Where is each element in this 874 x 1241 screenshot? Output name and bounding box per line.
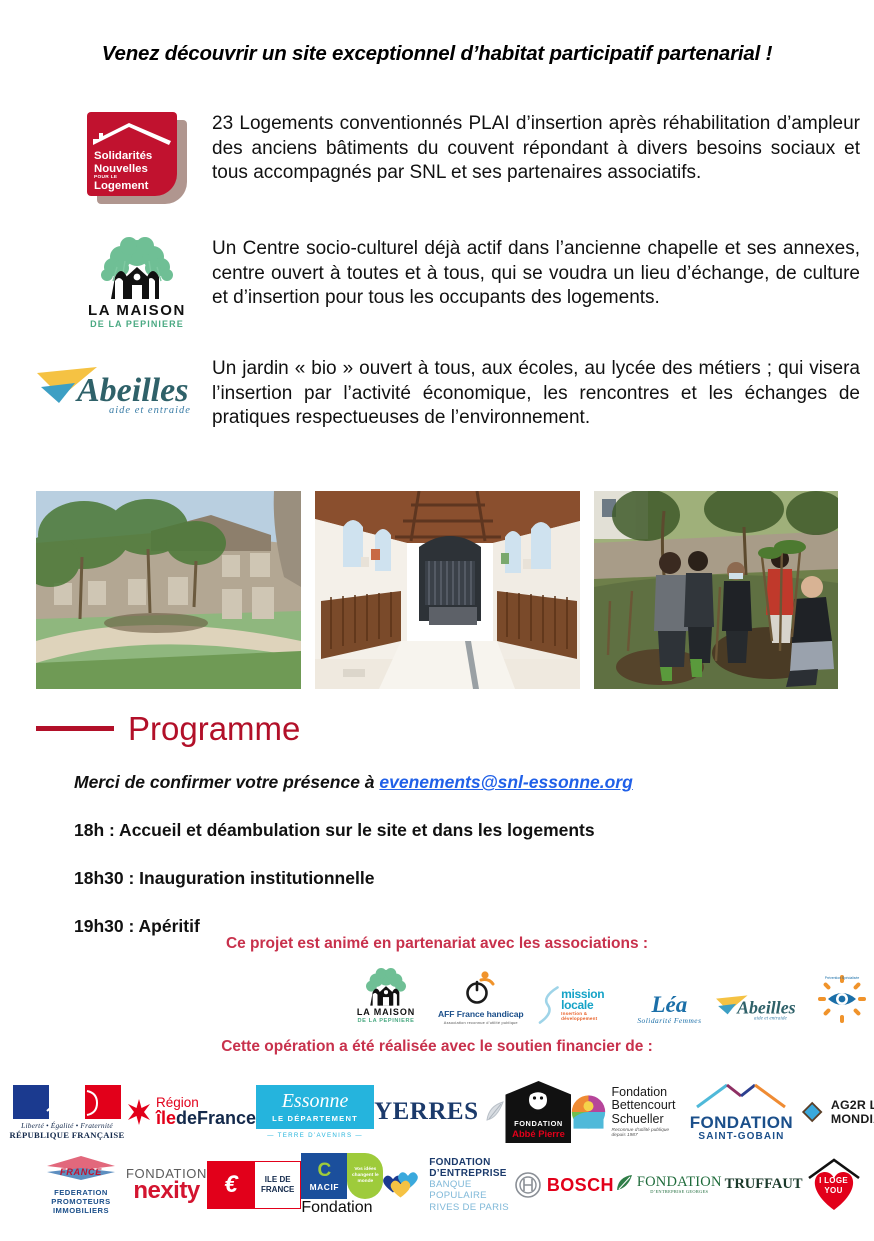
truffaut-line-1: FONDATION xyxy=(637,1176,722,1189)
house-roof-icon xyxy=(91,121,173,149)
bettencourt-circle-icon xyxy=(571,1091,606,1133)
federation-promoteurs-immobiliers-logo: FRANCE FEDERATION PROMOTEURS IMMOBILIERS xyxy=(36,1154,126,1216)
bett-line-4: Reconnue d’utilité publique depuis 1987 xyxy=(612,1128,683,1138)
iloge-line-1: I LOGE xyxy=(819,1176,848,1185)
abeilles-logo-wrap: Abeilles aide et entraide xyxy=(32,357,212,421)
snl-logo-wrap: Solidarités Nouvelles POUR LE Logement xyxy=(62,112,212,204)
yerres-logo: YERRES xyxy=(374,1098,505,1126)
svg-text:Abeilles: Abeilles xyxy=(75,372,188,409)
fondation-macif-logo: C MACIF Vos idées changent le monde Fond… xyxy=(301,1153,383,1217)
fondation-truffaut-logo: FONDATION D’ENTREPRISE GEORGES TRUFFAUT xyxy=(614,1172,803,1198)
la-maison-de-la-pepiniere-logo: LA MAISON DE LA PEPINIERE xyxy=(348,968,424,1025)
abeilles-logo: Abeilles aide et entraide xyxy=(35,357,210,421)
abbe-line-1: FONDATION xyxy=(514,1119,563,1128)
nexity-line-2: nexity xyxy=(126,1180,207,1203)
photo-chapel-art xyxy=(315,491,580,689)
aff-name: AFF France handicap xyxy=(433,1009,529,1019)
programme-list: Merci de confirmer votre présence à even… xyxy=(74,772,834,937)
fondation-abbe-pierre-logo: FONDATION Abbé Pierre xyxy=(505,1081,571,1143)
intro-block-jardin: Abeilles aide et entraide Un jardin « bi… xyxy=(32,357,860,431)
lea-name: Léa xyxy=(632,993,706,1016)
photo-tree-planting-volunteers xyxy=(594,491,838,689)
svg-text:Abeilles: Abeilles xyxy=(736,997,796,1017)
snl-logo-text: Solidarités Nouvelles POUR LE Logement xyxy=(87,150,177,193)
truffaut-line-0: D’ENTREPRISE GEORGES xyxy=(637,1189,722,1194)
rsvp-email-link[interactable]: evenements@snl-essonne.org xyxy=(379,772,632,792)
abeilles-logo: Abeilles aide et entraide xyxy=(715,989,807,1025)
macif-fondation: Fondation xyxy=(301,1199,383,1217)
republique-francaise-logo: Liberté • Égalité • Fraternité RÉPUBLIQU… xyxy=(8,1085,126,1140)
abeilles-wing-icon: Abeilles aide et entraide xyxy=(715,989,807,1025)
fondation-nexity-logo: FONDATION nexity xyxy=(126,1167,207,1203)
flyer-page: Venez découvrir un site exceptionnel d’h… xyxy=(0,0,874,1241)
lea-subname: Solidarité Femmes xyxy=(632,1016,706,1025)
i-loge-you-logo: I LOGE YOU xyxy=(803,1156,865,1214)
iloge-label: I LOGE YOU xyxy=(803,1176,865,1196)
funders-row-2: FRANCE FEDERATION PROMOTEURS IMMOBILIERS… xyxy=(36,1152,836,1218)
lea-solidarite-femmes-logo: Léa Solidarité Femmes xyxy=(632,993,706,1025)
sg-line-1: FONDATION xyxy=(682,1114,800,1131)
page-title: Venez découvrir un site exceptionnel d’h… xyxy=(0,42,874,66)
idf-france: France xyxy=(197,1108,256,1128)
photo-strip xyxy=(36,491,838,689)
fondation-entreprise-banque-populaire-rives-de-paris-logo: FONDATION D’ENTREPRISE BANQUE POPULAIRE … xyxy=(383,1157,515,1212)
bp-line-1: FONDATION xyxy=(429,1157,515,1168)
iloge-line-2: YOU xyxy=(824,1186,842,1195)
rsvp-prefix: Merci de confirmer votre présence à xyxy=(74,772,379,792)
programme-item-1: 18h : Accueil et déambulation sur le sit… xyxy=(74,820,834,841)
fdf-line-1: ILE DE xyxy=(265,1175,291,1185)
bp-line-3: BANQUE POPULAIRE xyxy=(429,1179,515,1201)
marianne-flag-icon xyxy=(13,1085,121,1119)
mission-locale-logo: mission locale Insertion & développement xyxy=(538,985,624,1025)
programme-item-2: 18h30 : Inauguration institutionnelle xyxy=(74,868,834,889)
essonne-departement: LE DÉPARTEMENT xyxy=(272,1114,358,1123)
euro-symbol: € xyxy=(207,1161,255,1209)
sg-line-2: SAINT-GOBAIN xyxy=(682,1131,800,1142)
snl-line-1: Solidarités xyxy=(94,150,152,162)
photo-chapel-interior-hall xyxy=(315,491,580,689)
funders-row-1: Liberté • Égalité • Fraternité RÉPUBLIQU… xyxy=(8,1078,868,1146)
yerres-title: YERRES xyxy=(374,1098,478,1126)
snl-line-2: Nouvelles xyxy=(94,163,148,175)
bett-line-2: Bettencourt xyxy=(612,1099,683,1112)
fondation-saint-gobain-logo: FONDATION SAINT-GOBAIN xyxy=(682,1083,800,1142)
fdf-line-2: FRANCE xyxy=(261,1185,294,1195)
bosch-armature-icon xyxy=(515,1172,541,1198)
idf-ile: île xyxy=(156,1108,176,1128)
rf-title: RÉPUBLIQUE FRANÇAISE xyxy=(8,1130,126,1140)
partners-heading: Ce projet est animé en partenariat avec … xyxy=(0,935,874,953)
macif-leaf-slogan: Vos idées changent le monde xyxy=(347,1153,383,1199)
fpi-france: FRANCE xyxy=(36,1167,126,1177)
handicap-wheelchair-icon xyxy=(463,970,499,1004)
intro-text-centre: Un Centre socio-culturel déjà actif dans… xyxy=(212,237,860,311)
ag2r-la-mondiale-logo: AG2R LA MONDIALE xyxy=(800,1093,874,1131)
fpi-line-4: IMMOBILIERS xyxy=(53,1206,109,1215)
svg-text:Prévention Spécialisée: Prévention Spécialisée xyxy=(825,976,860,980)
la-maison-de-la-pepiniere-logo: LA MAISON DE LA PEPINIERE xyxy=(77,237,197,329)
bp-line-2: D’ENTREPRISE xyxy=(429,1168,515,1179)
snl-logo-card: Solidarités Nouvelles POUR LE Logement xyxy=(87,112,177,196)
mission-line-2: locale xyxy=(561,1000,624,1011)
programme-title: Programme xyxy=(128,712,300,745)
intro-text-logements: 23 Logements conventionnés PLAI d’insert… xyxy=(212,112,860,186)
svg-text:aide et entraide: aide et entraide xyxy=(109,405,191,416)
macif-name: MACIF xyxy=(310,1182,340,1192)
chevron-roof-icon xyxy=(693,1083,789,1109)
region-ile-de-france-logo: Région îledeFrance xyxy=(126,1097,256,1127)
essonne-departement-logo: Essonne LE DÉPARTEMENT — TERRE D’AVENIRS… xyxy=(256,1085,374,1139)
fondation-ile-de-france-logo: € ILE DE FRANCE xyxy=(207,1161,301,1209)
mission-line-3: Insertion & développement xyxy=(561,1011,624,1021)
rf-devise: Liberté • Égalité • Fraternité xyxy=(8,1121,126,1130)
star-icon xyxy=(126,1099,152,1125)
fpi-line-3: PROMOTEURS xyxy=(51,1197,110,1206)
aff-subname: Association reconnue d’utilité publique xyxy=(433,1020,529,1025)
tree-house-icon xyxy=(348,968,424,1008)
idf-de: de xyxy=(176,1108,197,1128)
partner-logo-row: LA MAISON DE LA PEPINIERE AFF France han… xyxy=(348,963,868,1025)
essonne-tagline: — TERRE D’AVENIRS — xyxy=(256,1132,374,1139)
intro-text-jardin: Un jardin « bio » ouvert à tous, aux éco… xyxy=(212,357,860,431)
abbe-pierre-portrait-icon xyxy=(518,1089,558,1117)
photo-courtyard-stone-buildings xyxy=(36,491,301,689)
partner-maison-name: LA MAISON xyxy=(348,1008,424,1017)
maison-name: LA MAISON xyxy=(77,303,197,318)
hearts-icon xyxy=(383,1168,423,1202)
maison-subname: DE LA PEPINIERE xyxy=(77,320,197,329)
programme-item-3: 19h30 : Apéritif xyxy=(74,916,834,937)
aff-france-handicap-logo: AFF France handicap Association reconnue… xyxy=(433,970,529,1025)
truffaut-line-2: TRUFFAUT xyxy=(725,1178,803,1191)
bp-line-4: RIVES DE PARIS xyxy=(429,1202,515,1213)
abeilles-wing-icon: Abeilles aide et entraide xyxy=(35,357,210,421)
prevention-specialisee-logo: Prévention Spécialisée xyxy=(816,973,868,1025)
intro-block-logements: Solidarités Nouvelles POUR LE Logement 2… xyxy=(62,112,860,204)
intro-block-centre-socio-culturel: LA MAISON DE LA PEPINIERE Un Centre soci… xyxy=(62,237,860,329)
fpi-line-2: FEDERATION xyxy=(54,1188,108,1197)
snl-line-3: Logement xyxy=(94,180,148,192)
ag2r-title: AG2R LA MONDIALE xyxy=(831,1098,874,1126)
fondation-bettencourt-schueller-logo: Fondation Bettencourt Schueller Reconnue… xyxy=(571,1086,682,1138)
maison-logo-wrap: LA MAISON DE LA PEPINIERE xyxy=(62,237,212,329)
bett-line-3: Schueller xyxy=(612,1113,683,1126)
feather-icon xyxy=(483,1100,505,1124)
photo-courtyard-art xyxy=(36,491,301,689)
snl-logo: Solidarités Nouvelles POUR LE Logement xyxy=(87,112,187,204)
photo-planting-art xyxy=(594,491,838,689)
svg-text:aide et entraide: aide et entraide xyxy=(754,1016,788,1022)
funders-heading: Cette opération a été réalisée avec le s… xyxy=(0,1038,874,1056)
abbe-line-2: Abbé Pierre xyxy=(512,1128,565,1139)
macif-c-mark: C xyxy=(317,1161,331,1180)
mission-locale-swoosh-icon xyxy=(538,985,560,1025)
diamond-icon xyxy=(800,1093,824,1131)
bett-line-1: Fondation xyxy=(612,1086,683,1099)
essonne-signature: Essonne xyxy=(282,1091,349,1111)
bosch-logo: BOSCH xyxy=(515,1172,614,1198)
programme-header: Programme xyxy=(36,712,300,745)
leaf-icon xyxy=(614,1172,634,1198)
eye-sun-icon: Prévention Spécialisée xyxy=(816,973,868,1025)
bosch-title: BOSCH xyxy=(547,1175,614,1196)
partner-maison-subname: DE LA PEPINIERE xyxy=(348,1019,424,1025)
rsvp-line: Merci de confirmer votre présence à even… xyxy=(74,772,834,793)
programme-rule xyxy=(36,726,114,731)
tree-house-icon xyxy=(77,237,197,303)
